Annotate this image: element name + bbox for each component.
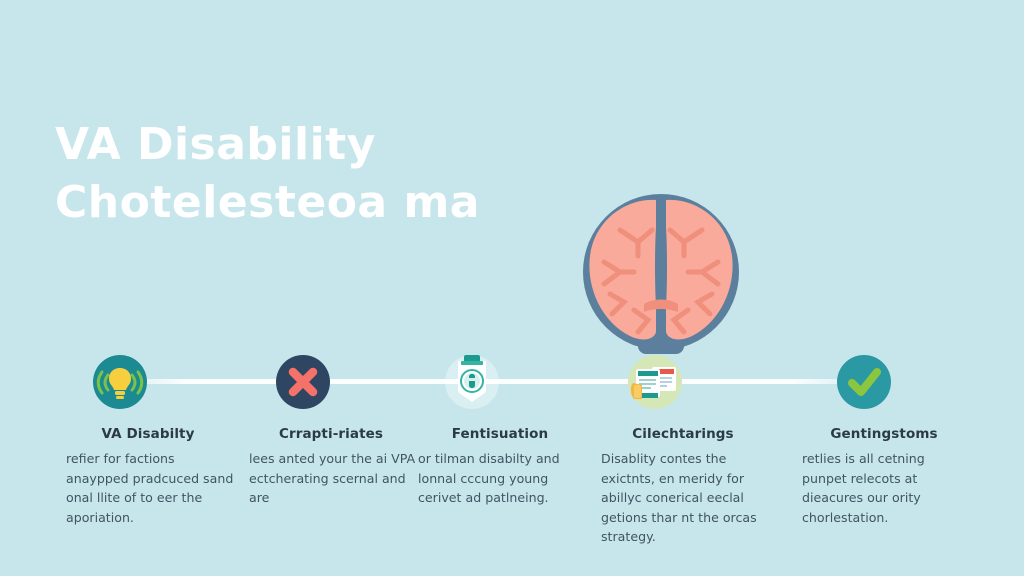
caption-column-2: Crrapti-riates lees anted your the ai VP… (243, 426, 419, 508)
check-success-icon (837, 355, 891, 409)
caption-heading-5: Gentingstoms (796, 426, 972, 442)
timeline-node-2[interactable] (276, 355, 330, 409)
timeline-node-3[interactable] (445, 355, 499, 409)
caption-heading-4: Cilechtarings (595, 426, 771, 442)
timeline-node-1[interactable] (93, 355, 147, 409)
page-title: VA Disability Chotelesteoa ma (55, 116, 575, 232)
caption-column-3: Fentisuation or tilman disabilty and lon… (412, 426, 588, 508)
title-line-1: VA Disability (55, 116, 575, 174)
clipboard-badge-icon (445, 352, 499, 410)
caption-body-2: lees anted your the ai VPA ectcherating … (243, 449, 419, 508)
caption-body-4: Disablity contes the exictnts, en meridy… (595, 449, 771, 547)
x-cross-icon (276, 355, 330, 409)
caption-body-5: retlies is all cetning punpet relecots a… (796, 449, 972, 527)
documents-report-icon (626, 355, 684, 409)
title-line-2: Chotelesteoa ma (55, 174, 575, 232)
timeline-node-5[interactable] (837, 355, 891, 409)
caption-heading-3: Fentisuation (412, 426, 588, 442)
infographic-slide: VA Disability Chotelesteoa ma (0, 0, 1024, 576)
caption-body-3: or tilman disabilty and lonnal cccung yo… (412, 449, 588, 508)
timeline-node-4[interactable] (628, 355, 682, 409)
caption-column-4: Cilechtarings Disablity contes the exict… (595, 426, 771, 547)
caption-body-1: refier for factions anaypped pradcuced s… (60, 449, 236, 527)
caption-column-1: VA Disabilty refier for factions anayppe… (60, 426, 236, 527)
lightbulb-idea-icon (93, 355, 147, 409)
caption-column-5: Gentingstoms retlies is all cetning punp… (796, 426, 972, 527)
caption-heading-2: Crrapti-riates (243, 426, 419, 442)
caption-heading-1: VA Disabilty (60, 426, 236, 442)
brain-central-fissure (655, 202, 667, 334)
brain-illustration (568, 186, 754, 358)
